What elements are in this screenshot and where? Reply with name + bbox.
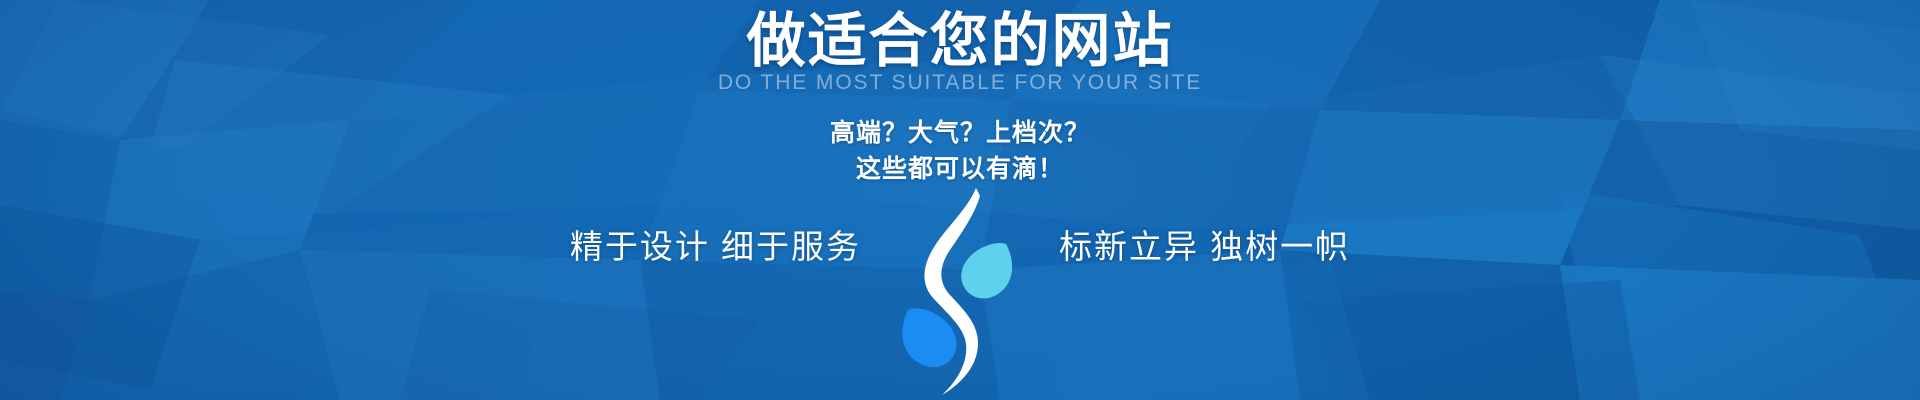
page-title: 做适合您的网站 [746, 8, 1173, 74]
pitch-line-1: 高端？大气？上档次？ [830, 116, 1090, 152]
english-subtitle: DO THE MOST SUITABLE FOR YOUR SITE [718, 71, 1202, 94]
hero-banner: 做适合您的网站 DO THE MOST SUITABLE FOR YOUR SI… [0, 0, 1920, 400]
leaf-sprout-logo-icon [898, 186, 1022, 398]
slogan-left: 精于设计 细于服务 [531, 230, 895, 263]
pitch-line-2: 这些都可以有滴！ [830, 152, 1090, 188]
pitch-block: 高端？大气？上档次？ 这些都可以有滴！ [830, 116, 1090, 187]
slogan-right: 标新立异 独树一帜 [1025, 230, 1389, 263]
logo-slot [895, 230, 1025, 398]
slogan-row: 精于设计 细于服务 标新立异 独树一帜 [0, 230, 1920, 398]
